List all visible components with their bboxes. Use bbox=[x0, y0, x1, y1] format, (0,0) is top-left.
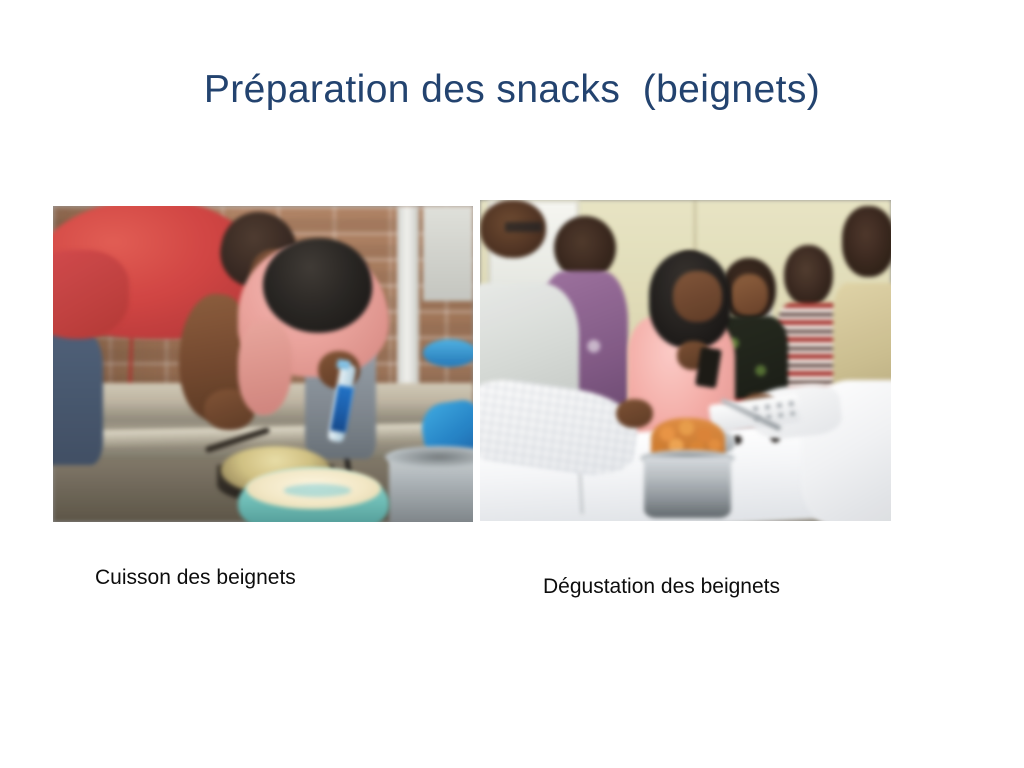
woman-in-pink-arm bbox=[238, 320, 293, 415]
eyeglasses bbox=[505, 222, 542, 232]
slide-canvas: Préparation des snacks (beignets) bbox=[0, 0, 1024, 768]
woman-in-pink-face bbox=[673, 271, 722, 322]
man-in-striped-polo-head bbox=[784, 245, 833, 306]
bowl-of-dough-highlight bbox=[284, 484, 351, 497]
pot-of-beignets bbox=[644, 457, 730, 518]
blue-bowl bbox=[423, 339, 473, 367]
caption-cuisson-des-beignets: Cuisson des beignets bbox=[95, 566, 296, 590]
person-left-hand bbox=[616, 399, 653, 428]
door-frame bbox=[423, 206, 473, 301]
woman-in-red-legs bbox=[53, 332, 103, 465]
caption-degustation-des-beignets: Dégustation des beignets bbox=[543, 575, 780, 599]
white-pipe bbox=[397, 206, 419, 402]
page-title: Préparation des snacks (beignets) bbox=[0, 68, 1024, 113]
man-in-khaki-shirt-head bbox=[842, 206, 891, 277]
smiling-woman-face bbox=[731, 274, 768, 316]
photo-cuisson-des-beignets[interactable] bbox=[53, 206, 473, 522]
water-bottle-cap bbox=[336, 359, 350, 370]
photo-degustation-des-beignets[interactable] bbox=[480, 200, 891, 521]
